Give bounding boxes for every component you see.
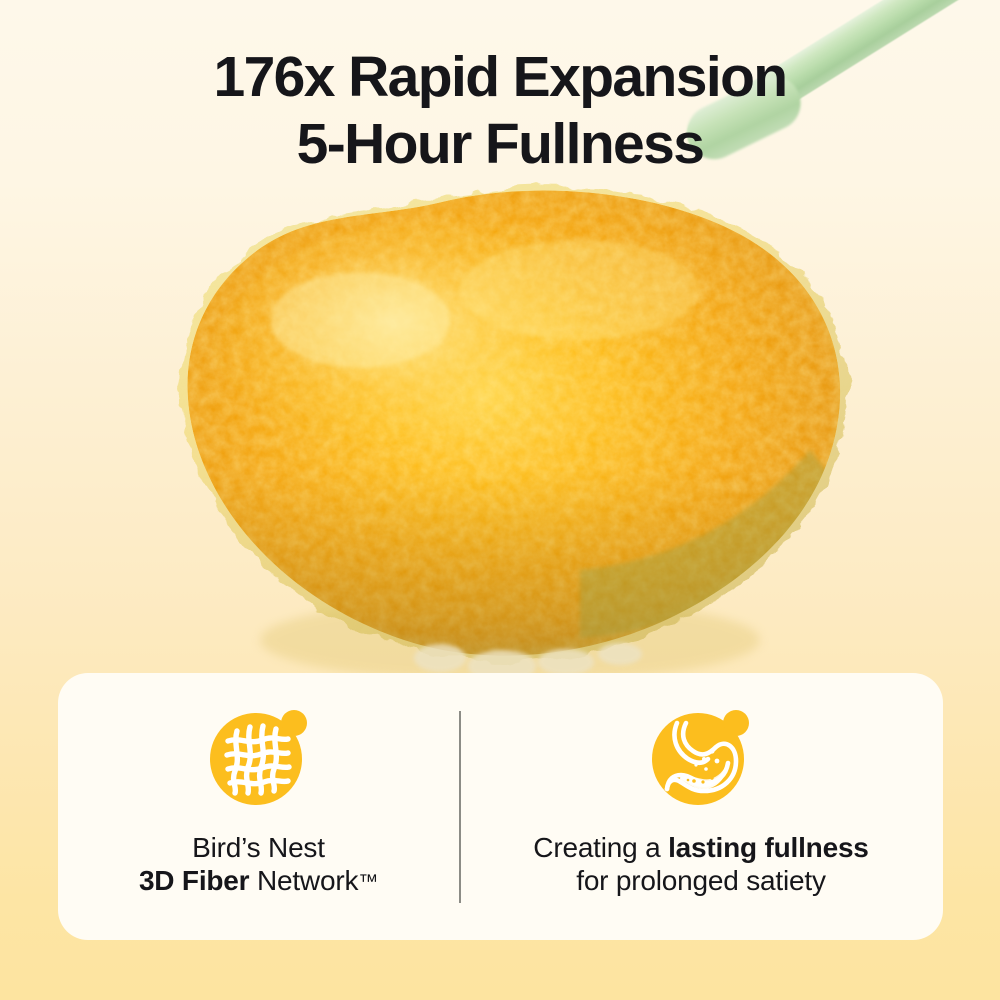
promo-graphic: 176x Rapid Expansion 5-Hour Fullness (0, 0, 1000, 1000)
fiber-caption-line-2: 3D Fiber Network™ (139, 864, 378, 899)
fiber-gel-mass (110, 170, 890, 690)
fiber-caption-rest: Network (249, 865, 358, 896)
feature-panel-fiber: Bird’s Nest 3D Fiber Network™ (58, 673, 459, 940)
satiety-caption: Creating a lasting fullness for prolonge… (533, 831, 868, 897)
headline-line-2: 5-Hour Fullness (0, 111, 1000, 178)
fiber-caption-bold: 3D Fiber (139, 865, 249, 896)
feature-panel-satiety: Creating a lasting fullness for prolonge… (459, 673, 943, 940)
page-title: 176x Rapid Expansion 5-Hour Fullness (0, 44, 1000, 178)
satiety-caption-plain: Creating a (533, 832, 668, 863)
fiber-mesh-icon (204, 701, 314, 811)
panel-divider (459, 711, 461, 903)
trademark-symbol: ™ (358, 871, 378, 893)
gel-body (110, 170, 890, 690)
fiber-caption: Bird’s Nest 3D Fiber Network™ (139, 831, 378, 899)
feature-card: Bird’s Nest 3D Fiber Network™ (58, 673, 943, 940)
stomach-icon (646, 701, 756, 811)
fiber-caption-line-1: Bird’s Nest (139, 831, 378, 864)
headline-line-1: 176x Rapid Expansion (0, 44, 1000, 111)
satiety-caption-bold: lasting fullness (668, 832, 869, 863)
satiety-caption-line-2: for prolonged satiety (533, 864, 868, 897)
gel-blob-illustration (110, 170, 890, 690)
satiety-caption-line-1: Creating a lasting fullness (533, 831, 868, 864)
